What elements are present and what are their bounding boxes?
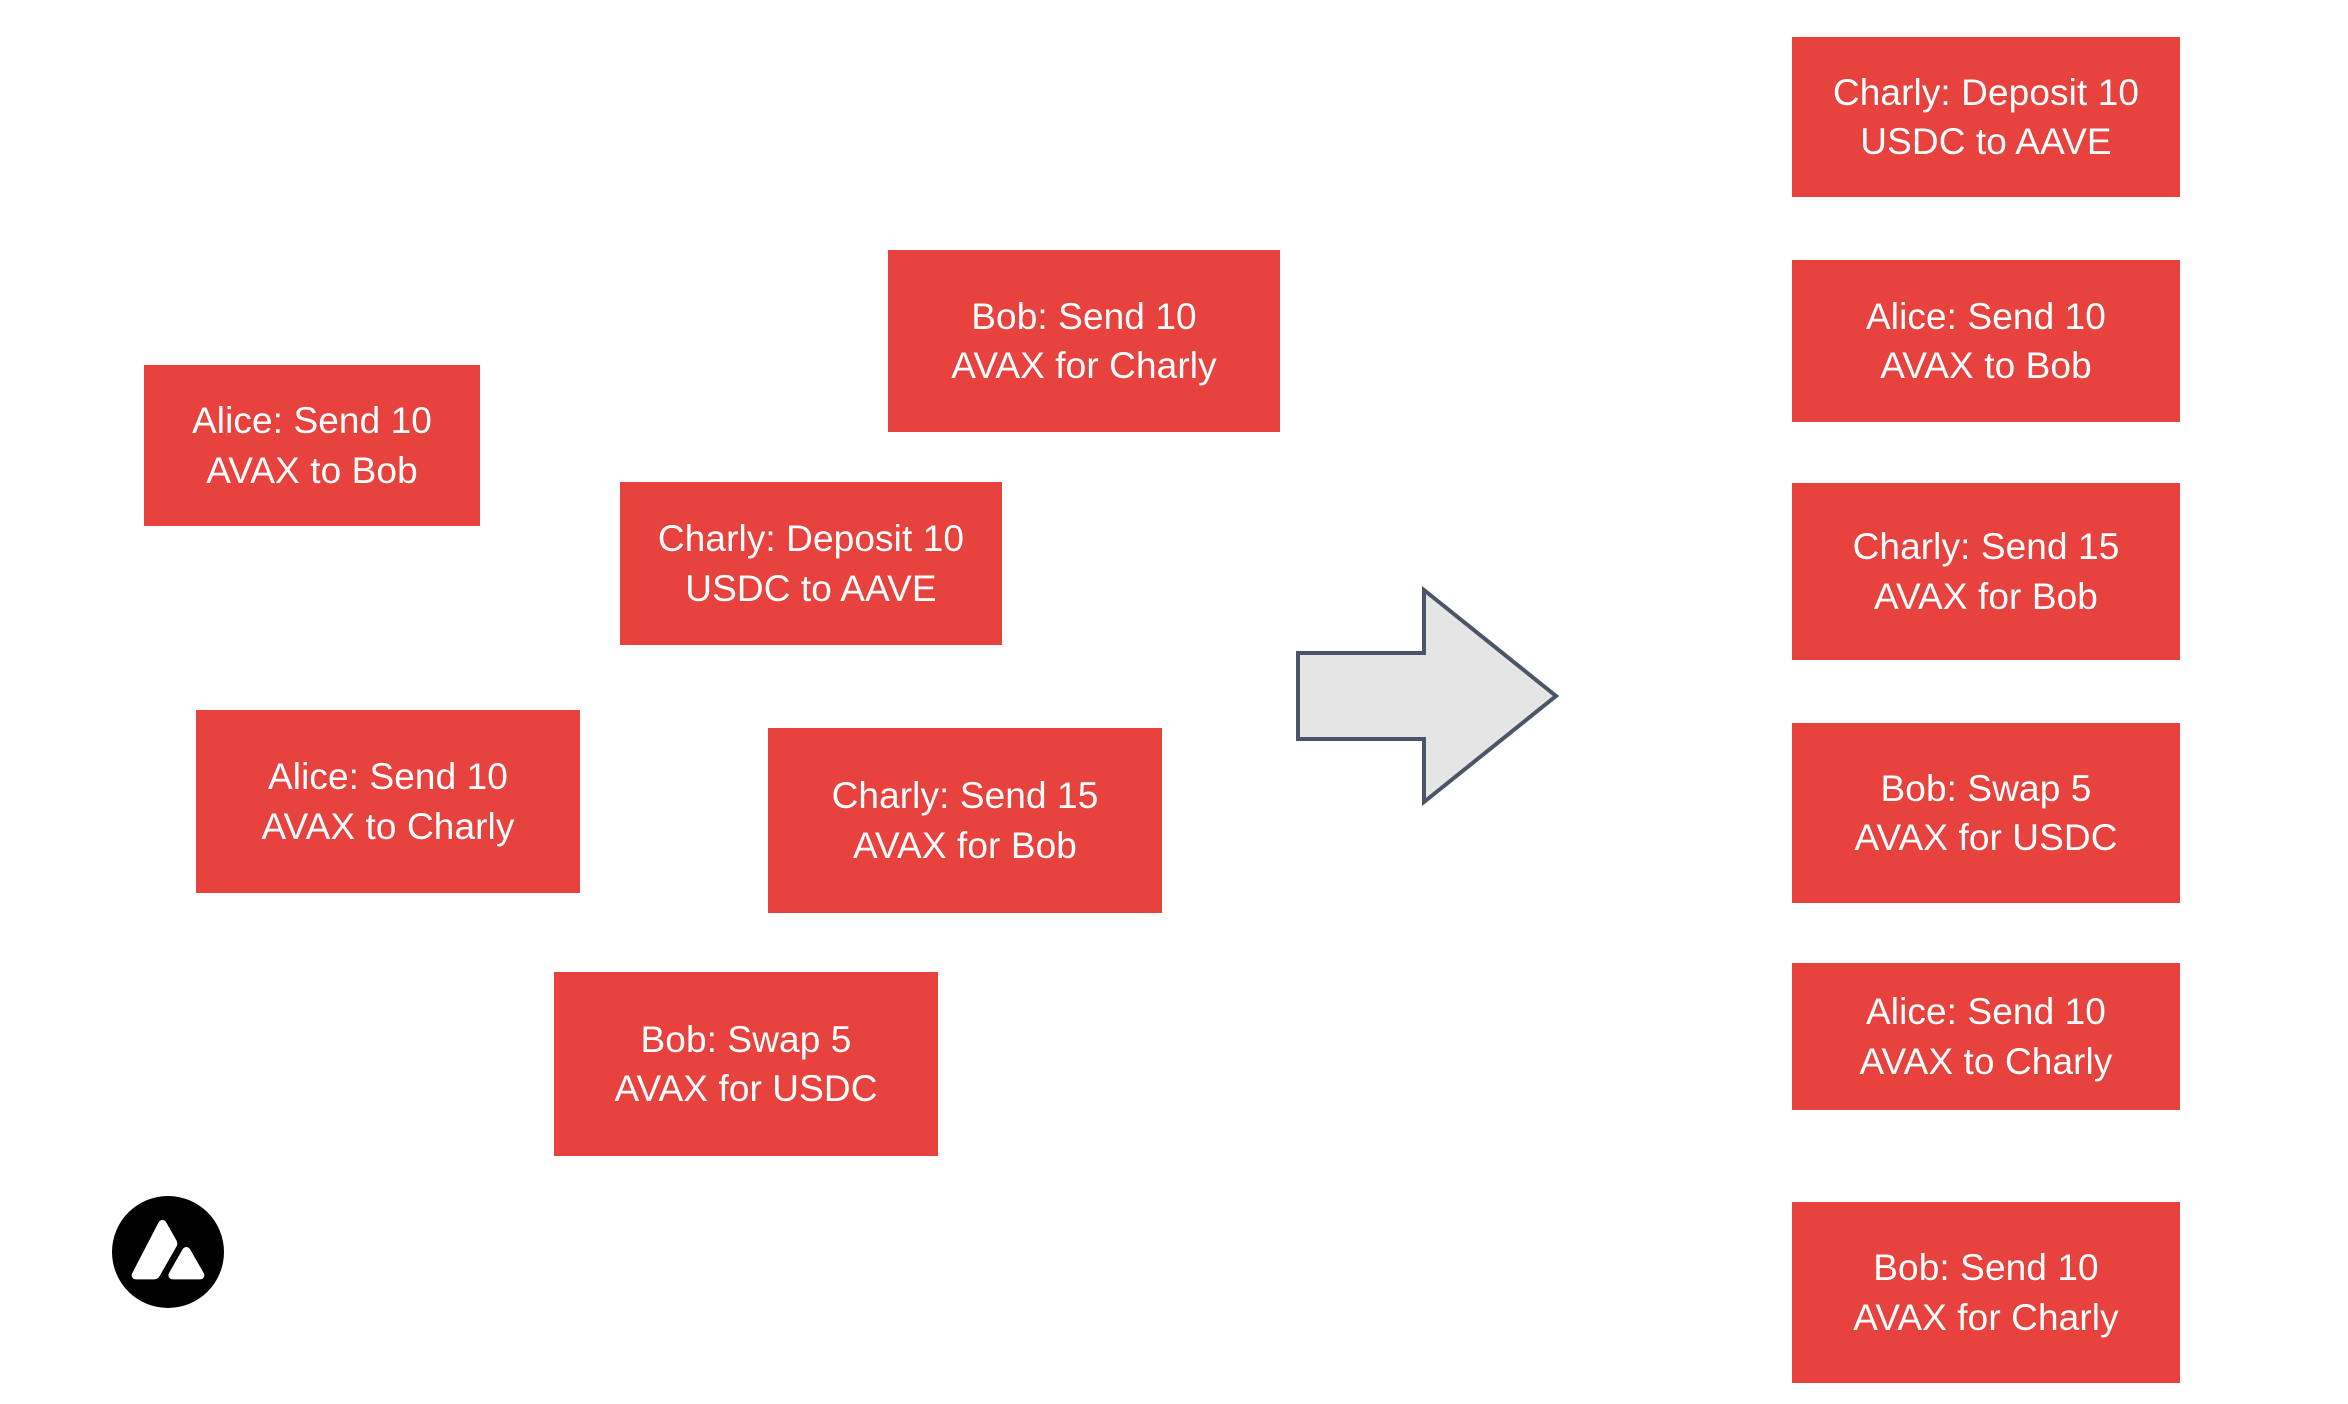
transaction-box[interactable]: Charly: Send 15 AVAX for Bob bbox=[768, 728, 1162, 913]
transaction-box[interactable]: Alice: Send 10 AVAX to Bob bbox=[144, 365, 480, 526]
arrow-right-icon bbox=[1296, 588, 1558, 804]
transaction-box[interactable]: Bob: Swap 5 AVAX for USDC bbox=[1792, 723, 2180, 903]
transaction-box[interactable]: Charly: Deposit 10 USDC to AAVE bbox=[1792, 37, 2180, 197]
transaction-box[interactable]: Bob: Send 10 AVAX for Charly bbox=[888, 250, 1280, 432]
transaction-box[interactable]: Charly: Send 15 AVAX for Bob bbox=[1792, 483, 2180, 660]
transaction-box[interactable]: Bob: Swap 5 AVAX for USDC bbox=[554, 972, 938, 1156]
avalanche-logo-icon bbox=[112, 1196, 224, 1308]
transaction-box[interactable]: Alice: Send 10 AVAX to Charly bbox=[196, 710, 580, 893]
transaction-box[interactable]: Bob: Send 10 AVAX for Charly bbox=[1792, 1202, 2180, 1383]
diagram-canvas: Alice: Send 10 AVAX to Bob Bob: Send 10 … bbox=[0, 0, 2348, 1404]
transaction-box[interactable]: Alice: Send 10 AVAX to Charly bbox=[1792, 963, 2180, 1110]
transaction-box[interactable]: Alice: Send 10 AVAX to Bob bbox=[1792, 260, 2180, 422]
transaction-box[interactable]: Charly: Deposit 10 USDC to AAVE bbox=[620, 482, 1002, 645]
